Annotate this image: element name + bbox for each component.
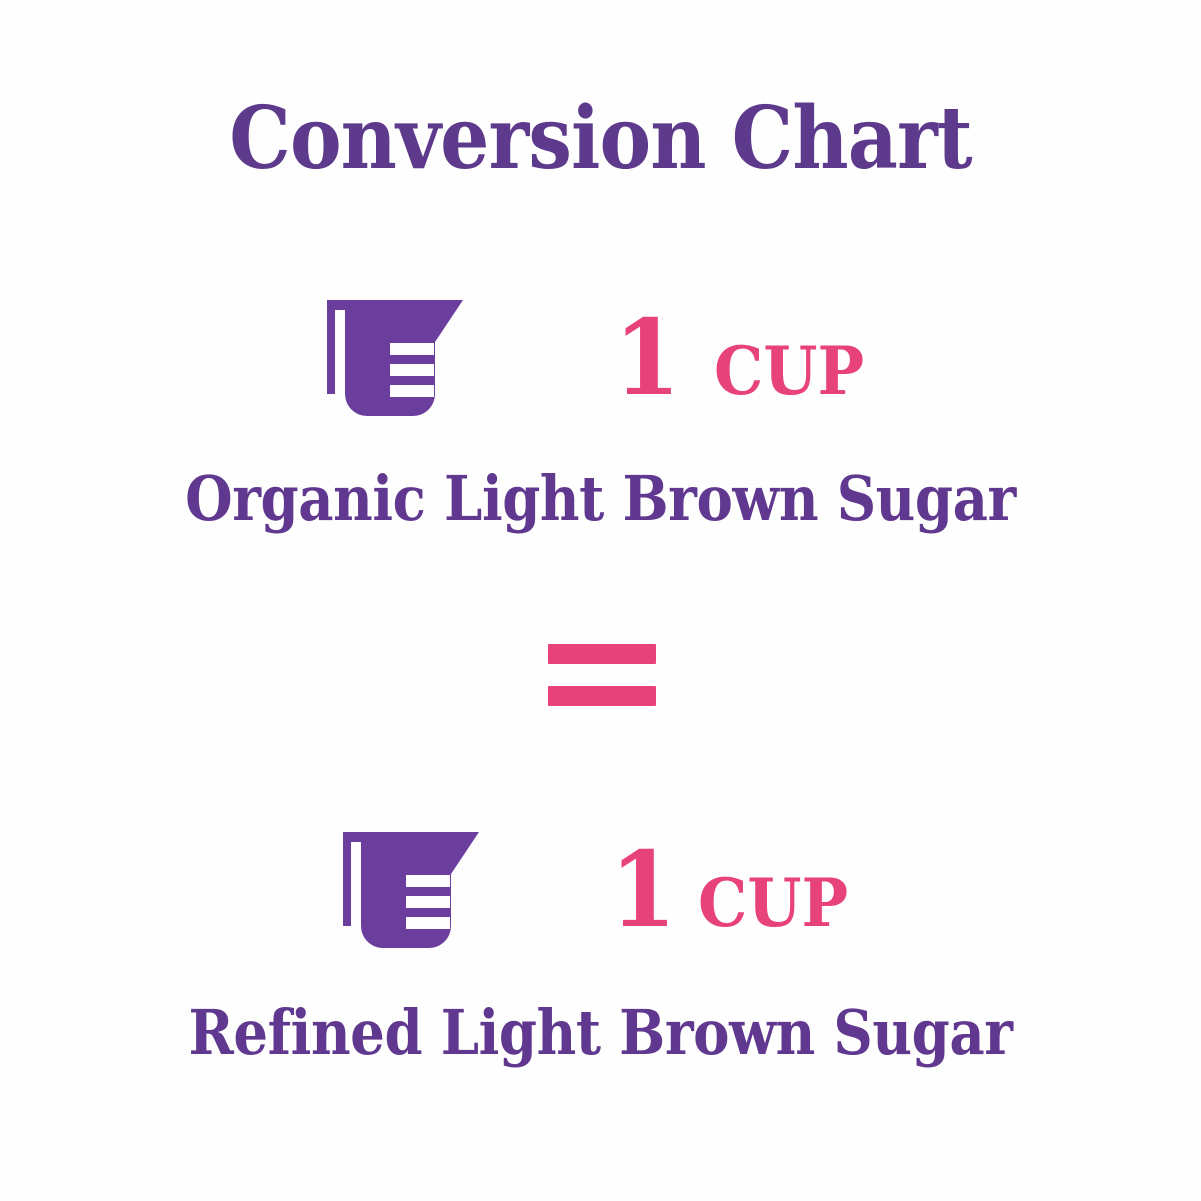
measuring-cup-icon	[327, 300, 463, 416]
conversion-row-to: 1 CUP	[0, 822, 1201, 957]
quantity-value-from: 1	[614, 311, 681, 405]
equals-bar-upper	[548, 644, 656, 664]
amount-to: 1 CUP	[607, 843, 857, 937]
unit-label-from: CUP	[714, 342, 864, 401]
page-title: Conversion Chart	[60, 96, 1141, 182]
ingredient-name-to: Refined Light Brown Sugar	[72, 1002, 1129, 1064]
amount-from: 1 CUP	[611, 311, 873, 405]
equals-sign-icon	[548, 644, 656, 708]
measuring-cup-icon	[343, 832, 479, 948]
unit-label-to: CUP	[698, 874, 848, 933]
conversion-row-from: 1 CUP	[0, 290, 1201, 425]
conversion-chart-page: Conversion Chart 1 CUP Organic Light Bro…	[0, 0, 1201, 1201]
ingredient-name-from: Organic Light Brown Sugar	[72, 468, 1129, 530]
quantity-value-to: 1	[610, 843, 677, 937]
equals-bar-lower	[548, 686, 656, 706]
